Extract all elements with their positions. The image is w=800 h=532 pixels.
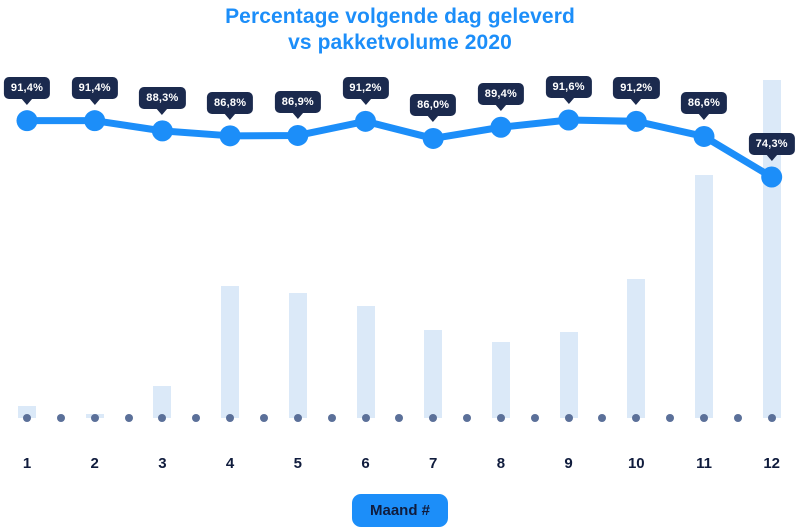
data-label-tooltip: 89,4% — [478, 83, 524, 105]
x-axis-tick-label: 11 — [696, 455, 712, 472]
data-label-tooltip: 74,3% — [749, 133, 795, 155]
data-label-tooltip: 86,0% — [410, 94, 456, 116]
x-axis-tick-label: 10 — [628, 455, 645, 472]
data-point-marker — [355, 111, 376, 132]
x-axis-tick-label: 3 — [158, 455, 166, 472]
data-point-marker — [17, 110, 38, 131]
data-point-marker — [490, 117, 511, 138]
data-point-marker — [694, 126, 715, 147]
x-axis-tick-label: 7 — [429, 455, 437, 472]
data-point-marker — [626, 111, 647, 132]
x-axis-tick-label: 5 — [294, 455, 302, 472]
data-point-marker — [220, 125, 241, 146]
data-label-tooltip: 91,4% — [4, 77, 50, 99]
x-axis-tick-label: 1 — [23, 455, 31, 472]
x-axis-tick-label: 8 — [497, 455, 505, 472]
data-point-marker — [423, 128, 444, 149]
data-label-tooltip: 86,8% — [207, 92, 253, 114]
data-label-tooltip: 86,6% — [681, 92, 727, 114]
x-axis-tick-label: 4 — [226, 455, 234, 472]
data-point-marker — [287, 125, 308, 146]
x-axis-tick-label: 6 — [361, 455, 369, 472]
plot-area: 91,4%91,4%88,3%86,8%86,9%91,2%86,0%89,4%… — [0, 0, 800, 440]
data-point-marker — [152, 120, 173, 141]
data-label-tooltip: 91,4% — [72, 77, 118, 99]
x-axis-tick-label: 9 — [564, 455, 572, 472]
data-label-tooltip: 91,6% — [545, 76, 591, 98]
data-label-tooltip: 88,3% — [139, 87, 185, 109]
data-point-marker — [761, 167, 782, 188]
line-series-percentage — [0, 0, 800, 440]
data-point-marker — [558, 110, 579, 131]
data-label-tooltip: 86,9% — [275, 91, 321, 113]
x-axis-title-pill: Maand # — [352, 494, 448, 527]
x-axis-tick-label: 2 — [91, 455, 99, 472]
data-point-marker — [84, 110, 105, 131]
chart-container: Percentage volgende dag geleverd vs pakk… — [0, 0, 800, 532]
data-label-tooltip: 91,2% — [342, 77, 388, 99]
x-axis-tick-label: 12 — [763, 455, 780, 472]
data-label-tooltip: 91,2% — [613, 77, 659, 99]
trend-line — [27, 120, 772, 177]
